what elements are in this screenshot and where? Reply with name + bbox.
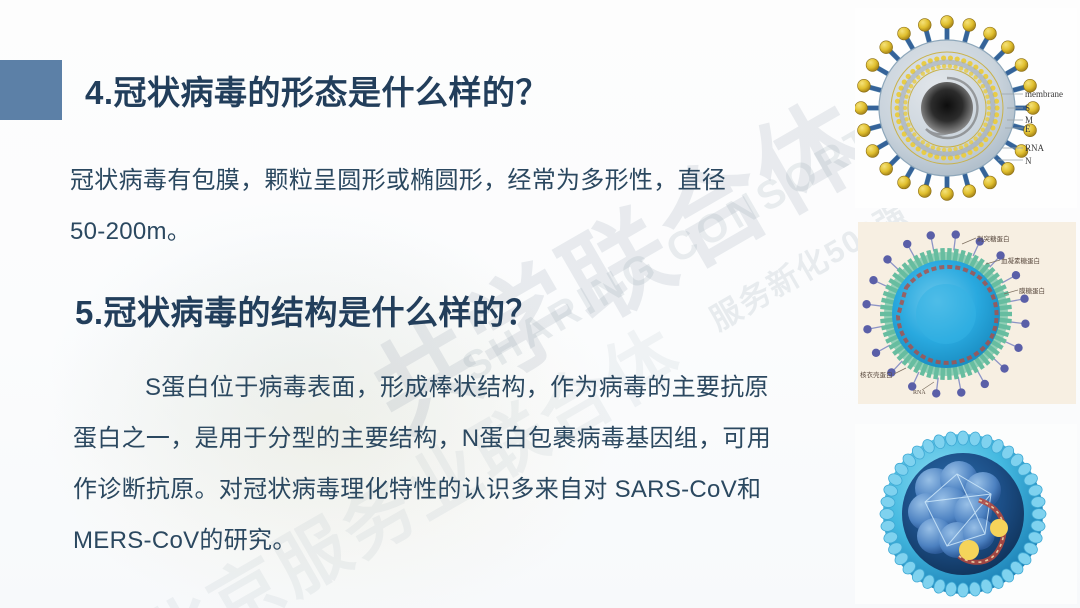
figure-coronavirus-cross-section: membrane S M E RNA N (855, 8, 1077, 208)
virus-render-svg (855, 424, 1077, 604)
figure1-label-e: E (1025, 124, 1031, 134)
accent-bar (0, 60, 62, 120)
figure2-label-rna: RNA (913, 390, 926, 396)
slide-canvas: 共学联合体 SHARING CONSORTIUM 服务新化500强 北京服务业联… (0, 0, 1080, 608)
figure-virion-structure: 刺突糖蛋白 血凝素糖蛋白 膜糖蛋白 核衣壳蛋白 RNA (858, 222, 1076, 404)
coronavirus-diagram-svg: membrane S M E RNA N (855, 8, 1077, 208)
figure2-label-membrane-glycoprotein: 膜糖蛋白 (1019, 286, 1045, 295)
figure-virus-particle-render (855, 424, 1077, 604)
figure2-label-nucleocapsid: 核衣壳蛋白 (860, 370, 893, 379)
heading-question-5: 5.冠状病毒的结构是什么样的？ (75, 286, 539, 334)
paragraph-answer-5: S蛋白位于病毒表面，形成棒状结构，作为病毒的主要抗原蛋白之一，是用于分型的主要结… (73, 362, 773, 566)
figure1-label-rna: RNA (1025, 143, 1045, 153)
figure2-label-spike: 刺突糖蛋白 (977, 234, 1010, 243)
paragraph-answer-4: 冠状病毒有包膜，颗粒呈圆形或椭圆形，经常为多形性，直径50-200m。 (70, 155, 760, 257)
heading-question-4: 4.冠状病毒的形态是什么样的？ (85, 66, 549, 114)
figure2-label-hemagglutinin: 血凝素糖蛋白 (1001, 256, 1040, 265)
virion-diagram-svg: 刺突糖蛋白 血凝素糖蛋白 膜糖蛋白 核衣壳蛋白 RNA (858, 222, 1076, 404)
figure1-label-n: N (1025, 156, 1032, 166)
figure1-label-membrane: membrane (1025, 89, 1063, 99)
figure1-label-s: S (1025, 103, 1030, 113)
